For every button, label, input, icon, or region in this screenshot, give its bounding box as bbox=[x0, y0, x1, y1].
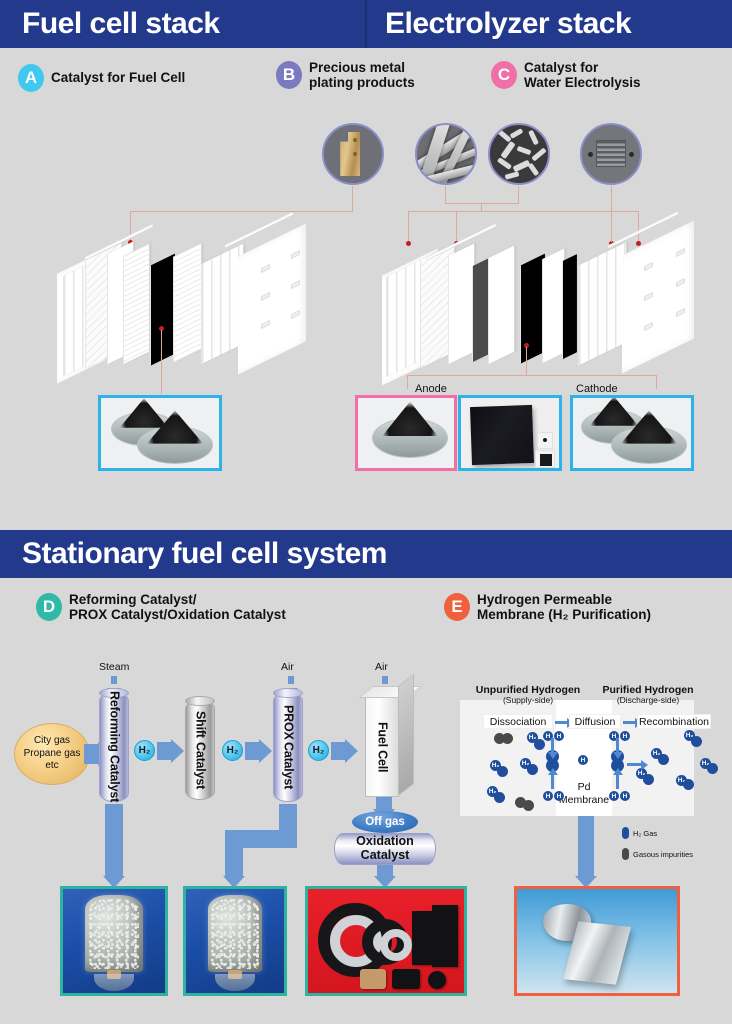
label-air-fuelcell: Air bbox=[375, 661, 388, 673]
label-anode: Anode bbox=[411, 383, 451, 395]
arrow-prox-elbow-h bbox=[225, 830, 297, 848]
badge-c: C bbox=[491, 61, 517, 89]
h2-molecule-d3b bbox=[643, 774, 654, 785]
catalyst-panel-1 bbox=[412, 911, 434, 965]
step-dissociation: Dissociation bbox=[483, 714, 553, 729]
h2-chip-1: H₂ bbox=[134, 740, 155, 761]
impurity-molecule-2b bbox=[523, 800, 534, 811]
unit-shift-catalyst: Shift Catalyst bbox=[185, 700, 215, 800]
key-e-label-line2: Membrane (H₂ Purification) bbox=[477, 607, 651, 622]
unit-reforming-catalyst: Reforming Catalyst bbox=[99, 692, 129, 802]
photo-oxidation-catalyst-products bbox=[305, 886, 467, 996]
oxidation-catalyst-label: Oxidation Catalyst bbox=[356, 835, 414, 863]
h-atom-r2: H bbox=[620, 731, 630, 741]
section-header-top: Fuel cell stack Electrolyzer stack bbox=[0, 0, 732, 48]
key-d-label: Reforming Catalyst/ PROX Catalyst/Oxidat… bbox=[69, 592, 286, 622]
key-e-label-line1: Hydrogen Permeable bbox=[477, 592, 651, 607]
arrow-steam bbox=[111, 676, 117, 684]
connector-a-horiz bbox=[130, 211, 353, 212]
arrow-recomb-to-gas bbox=[627, 763, 641, 766]
h2-molecule-s2b bbox=[497, 766, 508, 777]
legend-impurity-dot bbox=[622, 848, 629, 860]
connector-b-vert bbox=[445, 186, 446, 204]
h-atom-r4: H bbox=[620, 791, 630, 801]
header-divider bbox=[365, 0, 367, 48]
arrow-recomb-down bbox=[616, 738, 619, 752]
h2-molecule-s4b bbox=[494, 792, 505, 803]
photo-anode-catalyst-powder bbox=[355, 395, 457, 471]
fc-gdl-plate bbox=[123, 244, 149, 365]
membrane-chip-small bbox=[537, 432, 553, 449]
unit-fuel-cell: Fuel Cell bbox=[365, 697, 399, 797]
purified-sub: (Discharge-side) bbox=[578, 696, 718, 706]
h-atom-l3: H bbox=[543, 791, 553, 801]
el-cathode-layer bbox=[562, 255, 576, 360]
badge-e: E bbox=[444, 593, 470, 621]
arrow-dissociation-to-diffusion bbox=[555, 721, 567, 724]
oxidation-catalyst-line2: Catalyst bbox=[356, 849, 414, 863]
h-atom-inside: H bbox=[578, 755, 588, 765]
arrow-shift-to-prox bbox=[245, 742, 259, 760]
mesh-grid bbox=[596, 140, 626, 167]
key-d-label-line2: PROX Catalyst/Oxidation Catalyst bbox=[69, 607, 286, 622]
catalyst-panel-2 bbox=[432, 905, 458, 967]
prox-catalyst-label: PROX Catalyst bbox=[274, 693, 302, 801]
photo-cathode-catalyst-powder bbox=[570, 395, 694, 471]
arrow-oxidation-to-photo bbox=[377, 865, 393, 876]
connector-b2-vert bbox=[518, 186, 519, 204]
photo-electrolysis-membrane-sheet bbox=[458, 395, 562, 471]
h2-molecule-d5b bbox=[707, 763, 718, 774]
legend-h2-label: H₂ Gas bbox=[633, 829, 657, 838]
el-plate-3 bbox=[448, 244, 474, 365]
unit-oxidation-catalyst: Oxidation Catalyst bbox=[334, 833, 436, 865]
legend-gaseous-impurities: Gasous impurities bbox=[622, 848, 693, 860]
catalyst-jar-2 bbox=[208, 895, 263, 972]
key-b-label-line2: plating products bbox=[309, 75, 415, 90]
fc-flow-plate-2 bbox=[201, 244, 243, 364]
arrow-prox-to-photo bbox=[225, 845, 243, 876]
gas-source-line1: City gas bbox=[24, 735, 81, 748]
title-stationary-system: Stationary fuel cell system bbox=[22, 537, 387, 571]
arrow-dissoc-up bbox=[551, 775, 554, 789]
connector-c-bus bbox=[611, 211, 639, 212]
h2-molecule-d1b bbox=[691, 736, 702, 747]
catalyst-honeycomb-1 bbox=[360, 969, 386, 989]
arrow-source-to-reforming bbox=[84, 744, 98, 764]
h2-molecule-s1b bbox=[534, 739, 545, 750]
photo-reforming-catalyst-pellets bbox=[60, 886, 168, 996]
photo-prox-catalyst-pellets bbox=[183, 886, 287, 996]
step-recombination: Recombination bbox=[637, 714, 711, 729]
el-plate-5 bbox=[542, 249, 564, 364]
label-unpurified-hydrogen: Unpurified Hydrogen (Supply-side) bbox=[458, 684, 598, 706]
fuel-cell-side-face bbox=[398, 674, 414, 796]
arrow-air-prox bbox=[288, 676, 294, 684]
key-a[interactable]: A Catalyst for Fuel Cell bbox=[18, 64, 185, 92]
el-plate-4 bbox=[488, 246, 514, 365]
unpurified-sub: (Supply-side) bbox=[458, 696, 598, 706]
pd-membrane-line2: Membrane bbox=[556, 794, 612, 807]
petri-dish-2 bbox=[137, 426, 213, 464]
h2-chip-2: H₂ bbox=[222, 740, 243, 761]
catalyst-jar-1 bbox=[85, 895, 142, 972]
title-fuel-cell-stack: Fuel cell stack bbox=[22, 7, 220, 41]
gas-source-text: City gas Propane gas etc bbox=[24, 735, 81, 773]
catalyst-sphere bbox=[428, 971, 446, 989]
h2-molecule-d4b bbox=[683, 779, 694, 790]
key-b[interactable]: B Precious metal plating products bbox=[276, 60, 415, 90]
key-d-label-line1: Reforming Catalyst/ bbox=[69, 592, 286, 607]
connector-a-vert bbox=[352, 186, 353, 212]
key-c-label: Catalyst for Water Electrolysis bbox=[524, 60, 641, 90]
photo-sem-dendrites bbox=[488, 123, 550, 185]
label-pd-membrane: Pd Membrane bbox=[556, 781, 612, 806]
key-e-label: Hydrogen Permeable Membrane (H₂ Purifica… bbox=[477, 592, 651, 622]
gas-source-line2: Propane gas bbox=[24, 748, 81, 761]
membrane-chip-large bbox=[535, 450, 555, 468]
electrolyzer-stack-diagram bbox=[382, 228, 712, 383]
arrow-dissoc-down bbox=[551, 738, 554, 752]
pd-membrane-line1: Pd bbox=[556, 781, 612, 794]
key-d[interactable]: D Reforming Catalyst/ PROX Catalyst/Oxid… bbox=[36, 592, 286, 622]
offgas-pill: Off gas bbox=[352, 811, 418, 833]
key-e[interactable]: E Hydrogen Permeable Membrane (H₂ Purifi… bbox=[444, 592, 651, 622]
key-b-label-line1: Precious metal bbox=[309, 60, 415, 75]
key-c-label-line2: Water Electrolysis bbox=[524, 75, 641, 90]
arrow-prox-to-fuelcell bbox=[331, 742, 345, 760]
label-steam: Steam bbox=[99, 661, 129, 673]
title-electrolyzer-stack: Electrolyzer stack bbox=[385, 7, 631, 41]
el-endplate-right bbox=[622, 220, 694, 373]
fc-endplate-right bbox=[238, 223, 306, 374]
fuel-cell-label: Fuel Cell bbox=[366, 698, 398, 796]
el-membrane-1 bbox=[520, 254, 544, 364]
badge-b: B bbox=[276, 61, 302, 89]
infographic-page: Fuel cell stack Electrolyzer stack A Cat… bbox=[0, 0, 732, 1024]
label-air-prox: Air bbox=[281, 661, 294, 673]
connector-fc-photo bbox=[161, 330, 162, 394]
arrow-fuelcell-to-offgas bbox=[376, 797, 392, 809]
photo-plated-bipolar-plate bbox=[322, 123, 384, 185]
legend-h2-dot bbox=[622, 827, 629, 839]
legend-impurity-label: Gasous impurities bbox=[633, 850, 693, 859]
h-atom-l2: H bbox=[554, 731, 564, 741]
h2-molecule-s3b bbox=[527, 764, 538, 775]
petri-dish-anode bbox=[372, 418, 448, 458]
photo-mesh-electrode bbox=[580, 123, 642, 185]
arrow-reforming-to-photo bbox=[105, 804, 123, 876]
h2-molecule-d2b bbox=[658, 754, 669, 765]
connector-el-left bbox=[407, 375, 408, 389]
badge-d: D bbox=[36, 593, 62, 621]
h-atom-l4: H bbox=[554, 791, 564, 801]
photo-pd-membrane-foil bbox=[514, 886, 680, 996]
photo-sem-fibers bbox=[415, 123, 477, 185]
petri-dish-4 bbox=[611, 426, 687, 464]
connector-el-right bbox=[656, 375, 657, 389]
arrow-air-fuelcell bbox=[382, 676, 388, 684]
label-purified-hydrogen: Purified Hydrogen (Discharge-side) bbox=[578, 684, 718, 706]
connector-b-bus2 bbox=[408, 211, 612, 212]
h-atom-r3: H bbox=[609, 791, 619, 801]
section-header-stationary: Stationary fuel cell system bbox=[0, 530, 732, 578]
arrow-diffusion-to-recombination bbox=[623, 721, 635, 724]
arrow-recomb-up bbox=[616, 775, 619, 789]
unit-prox-catalyst: PROX Catalyst bbox=[273, 692, 303, 802]
membrane-sheet bbox=[470, 405, 534, 465]
arrow-membrane-to-photo bbox=[578, 816, 594, 876]
catalyst-honeycomb-2 bbox=[392, 969, 420, 989]
fc-gdl-plate-2 bbox=[173, 243, 201, 363]
photo-fuel-cell-catalyst-powder bbox=[98, 395, 222, 471]
connector-c-vert bbox=[611, 186, 612, 211]
key-c-label-line1: Catalyst for bbox=[524, 60, 641, 75]
label-cathode: Cathode bbox=[572, 383, 622, 395]
fuel-cell-stack-diagram bbox=[55, 228, 345, 378]
el-flow-plate-2 bbox=[578, 242, 626, 365]
reforming-catalyst-label: Reforming Catalyst bbox=[100, 693, 128, 801]
badge-a: A bbox=[18, 64, 44, 92]
key-b-label: Precious metal plating products bbox=[309, 60, 415, 90]
gas-source-line3: etc bbox=[24, 760, 81, 773]
connector-el-down bbox=[526, 347, 527, 375]
key-a-label: Catalyst for Fuel Cell bbox=[51, 70, 185, 85]
legend-h2-gas: H₂ Gas bbox=[622, 827, 657, 839]
connector-el-bus bbox=[407, 375, 657, 376]
catalyst-coil-4 bbox=[380, 929, 412, 961]
step-diffusion: Diffusion bbox=[569, 714, 621, 729]
arrow-reforming-to-shift bbox=[157, 742, 171, 760]
shift-catalyst-label: Shift Catalyst bbox=[186, 701, 214, 799]
key-c[interactable]: C Catalyst for Water Electrolysis bbox=[491, 60, 641, 90]
impurity-molecule-1b bbox=[502, 733, 513, 744]
oxidation-catalyst-line1: Oxidation bbox=[356, 835, 414, 849]
h2-chip-3: H₂ bbox=[308, 740, 329, 761]
gas-source: City gas Propane gas etc bbox=[14, 723, 90, 785]
